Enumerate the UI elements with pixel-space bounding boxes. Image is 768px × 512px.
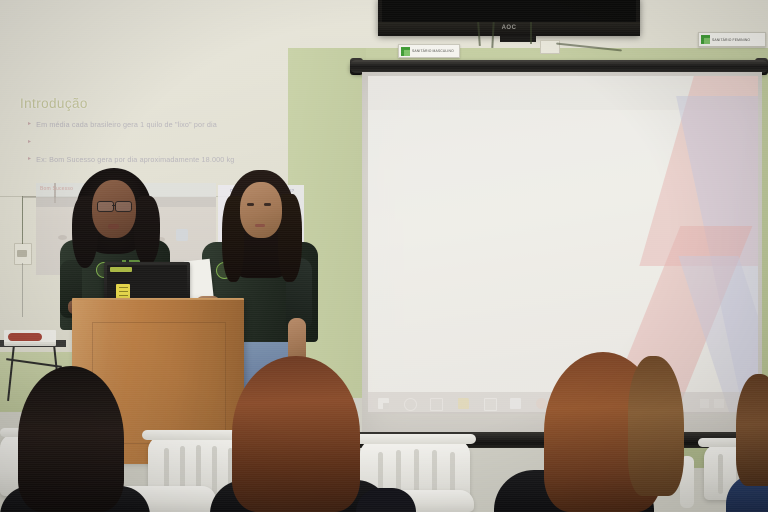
wall-cable-up xyxy=(22,196,23,244)
bullet-marker-icon: ▸ xyxy=(28,155,31,164)
chair-arm xyxy=(354,434,476,444)
task-view-icon[interactable] xyxy=(430,398,443,411)
presenter-right-eye xyxy=(247,203,254,206)
wall-outlet-socket xyxy=(17,250,27,257)
sign-sanitario-feminino: SANITÁRIO FEMININO xyxy=(698,32,766,47)
bullet-marker-icon: ▸ xyxy=(28,120,31,129)
wall-monitor-screen xyxy=(382,0,636,22)
audience-5-head xyxy=(736,374,768,486)
audience-4-head xyxy=(628,356,684,496)
sign-label: SANITÁRIO FEMININO xyxy=(712,37,750,41)
bullet-marker-icon: ▸ xyxy=(28,138,31,146)
cortana-circle-icon[interactable] xyxy=(404,398,417,411)
file-explorer-icon[interactable] xyxy=(458,398,469,409)
slide-bullet-item: ▸ Ex: Bom Sucesso gera por dia aproximad… xyxy=(28,155,328,164)
laptop-asset-sticker-green xyxy=(110,267,132,272)
red-object xyxy=(8,333,42,341)
slide-photo-caption: Bom Sucesso xyxy=(40,186,73,192)
wall-cable-down xyxy=(22,263,23,317)
photo-litter xyxy=(58,235,67,240)
presenter-left-mouth xyxy=(108,224,119,229)
projected-slide xyxy=(368,76,758,412)
audience-1-head xyxy=(18,366,124,512)
sign-sanitario-masculino: SANITÁRIO MASCULINO xyxy=(398,44,460,58)
photo-vehicle xyxy=(176,229,188,241)
mail-icon[interactable] xyxy=(510,398,521,409)
edge-icon[interactable] xyxy=(536,398,547,409)
presenter-left-hair-side xyxy=(134,196,160,266)
slide-bullet-text: Ex: Bom Sucesso gera por dia aproximadam… xyxy=(36,155,234,164)
eyeglasses-bridge xyxy=(112,205,116,206)
tv-cable-3 xyxy=(530,22,532,44)
presenter-right-eye xyxy=(264,203,271,206)
store-icon[interactable] xyxy=(484,398,497,411)
aoc-brand-logo: AOC xyxy=(495,24,523,33)
slide-bullet-item: ▸ Em média cada brasileiro gera 1 quilo … xyxy=(28,120,328,129)
slide-bullet-text: Em média cada brasileiro gera 1 quilo de… xyxy=(36,120,217,129)
windows-start-icon[interactable] xyxy=(378,398,389,409)
audience-2-head xyxy=(232,356,360,512)
presenter-right-face xyxy=(240,182,282,238)
slide-bullet-list: ▸ Em média cada brasileiro gera 1 quilo … xyxy=(28,120,328,173)
slide-bullet-item: ▸ xyxy=(28,138,328,146)
eyeglasses-icon xyxy=(97,201,114,212)
slide-title: Introdução xyxy=(20,96,88,111)
system-tray[interactable] xyxy=(700,399,734,408)
eyeglasses-icon xyxy=(115,201,132,212)
presenter-right-mouth xyxy=(255,224,265,227)
sign-label: SANITÁRIO MASCULINO xyxy=(412,49,454,53)
institution-logo-icon xyxy=(701,35,710,44)
classroom-presentation-photo: AOC SANITÁRIO MASCULINO SANITÁRIO FEMINI… xyxy=(0,0,768,512)
institution-logo-icon xyxy=(401,47,410,56)
